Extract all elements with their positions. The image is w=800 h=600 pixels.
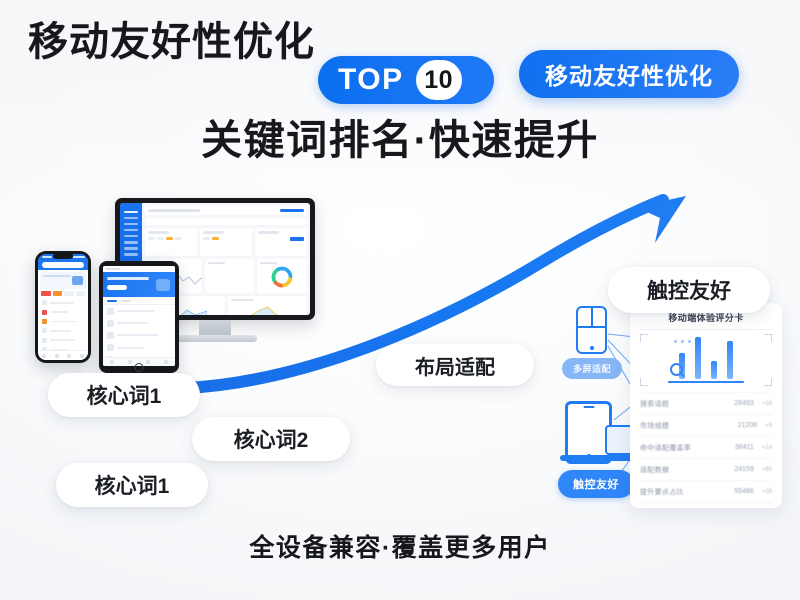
row-delta: +14 (762, 445, 772, 451)
pill-keyword-2: 核心词2 (192, 417, 350, 461)
table-row: 命中适配覆盖率 38411 +14 (640, 436, 772, 458)
row-value: 28493 (734, 400, 753, 407)
phone-screen (38, 254, 88, 360)
list-item (38, 307, 88, 316)
list-item (38, 298, 88, 307)
table-row: 适配数据 24159 +60 (640, 458, 772, 480)
top-badge-number: 10 (416, 60, 462, 100)
scorecard-bar-chart (640, 329, 772, 386)
mobile-experience-scorecard: 移动端体验评分卡 搜索话题 28493 +18 市场规模 (630, 303, 782, 508)
tablet-hero-illustration (156, 279, 170, 291)
diagram-phone-icon (576, 306, 607, 354)
tablet-hero-banner (103, 272, 175, 297)
top-rank-badge: TOP 10 (318, 56, 494, 104)
tablet-tabs (103, 297, 175, 305)
search-input[interactable] (42, 262, 84, 268)
row-label: 提升要点占比 (640, 487, 684, 497)
pill-touch-friendly: 触控友好 (608, 267, 770, 313)
list-item (38, 317, 88, 326)
row-delta: +28 (762, 489, 772, 495)
list-item (103, 329, 175, 341)
row-value: 21208 (738, 422, 757, 429)
dashboard-card-row-1 (145, 228, 307, 256)
top-badge-word: TOP (338, 65, 404, 95)
table-row: 数据趋势参考值 22449 +41 (640, 502, 772, 508)
row-label: 搜索话题 (640, 399, 669, 409)
dashboard-topbar (145, 206, 307, 215)
chart-baseline (668, 381, 744, 384)
list-item (38, 326, 88, 335)
chart-bars (679, 337, 733, 379)
magnifier-icon (670, 363, 683, 376)
dashboard-card (200, 228, 252, 256)
tablet-home-button (135, 363, 144, 372)
monitor-stand-neck (199, 320, 231, 336)
device-mockup-cluster (24, 193, 344, 383)
phone-notch (53, 253, 73, 259)
phone-mockup (35, 251, 91, 363)
dashboard-filterbar (145, 218, 307, 225)
row-value: 55486 (734, 488, 753, 495)
donut-chart (272, 266, 293, 287)
footer-tagline: 全设备兼容·覆盖更多用户 (0, 528, 800, 564)
tablet-screen (103, 266, 175, 366)
phone-tabbar (38, 350, 88, 360)
scorecard-rows: 搜索话题 28493 +18 市场规模 21208 +9 命中适配覆盖率 384… (630, 392, 782, 508)
dashboard-donut-chart-card (257, 259, 307, 293)
pill-layout-fit: 布局适配 (376, 344, 534, 386)
page-title: 移动友好性优化 (28, 22, 315, 62)
hero-badge-mobile-friendly: 移动友好性优化 (519, 50, 739, 98)
list-item (103, 317, 175, 329)
diagram-touch-pill: 触控友好 (558, 470, 634, 498)
diagram-multiscreen-pill: 多屏适配 (562, 358, 622, 379)
row-label: 市场规模 (640, 421, 669, 431)
device-network-diagram: 多屏适配 触控友好 移动端体验评分卡 搜索话题 28493 +18 (548, 300, 784, 512)
row-value: 38411 (735, 444, 754, 451)
monitor-stand-base (173, 335, 257, 342)
list-item (103, 342, 175, 354)
list-item (103, 305, 175, 317)
dashboard-area-chart-card (228, 296, 308, 315)
table-row: 提升要点占比 55486 +28 (640, 480, 772, 502)
pill-keyword-3: 核心词1 (56, 463, 208, 507)
table-row: 市场规模 21208 +9 (640, 414, 772, 436)
row-delta: +18 (762, 401, 772, 407)
phone-tag-row (38, 291, 88, 298)
list-item (38, 336, 88, 345)
row-value: 24159 (734, 466, 753, 473)
phone-feature-card (40, 272, 86, 289)
row-delta: +9 (765, 423, 772, 429)
thumbnail-image (72, 276, 83, 285)
row-label: 命中适配覆盖率 (640, 443, 691, 453)
row-delta: +60 (762, 467, 772, 473)
dashboard-card (255, 228, 307, 256)
poster-canvas: 移动友好性优化 TOP 10 移动友好性优化 关键词排名·快速提升 (0, 0, 800, 600)
dashboard-stat-card (205, 259, 255, 293)
row-label: 适配数据 (640, 465, 669, 475)
dashboard-card (145, 228, 197, 256)
table-row: 搜索话题 28493 +18 (640, 392, 772, 414)
page-subtitle: 关键词排名·快速提升 (0, 118, 800, 163)
pill-keyword-1: 核心词1 (48, 373, 200, 417)
tablet-mockup (99, 261, 179, 373)
